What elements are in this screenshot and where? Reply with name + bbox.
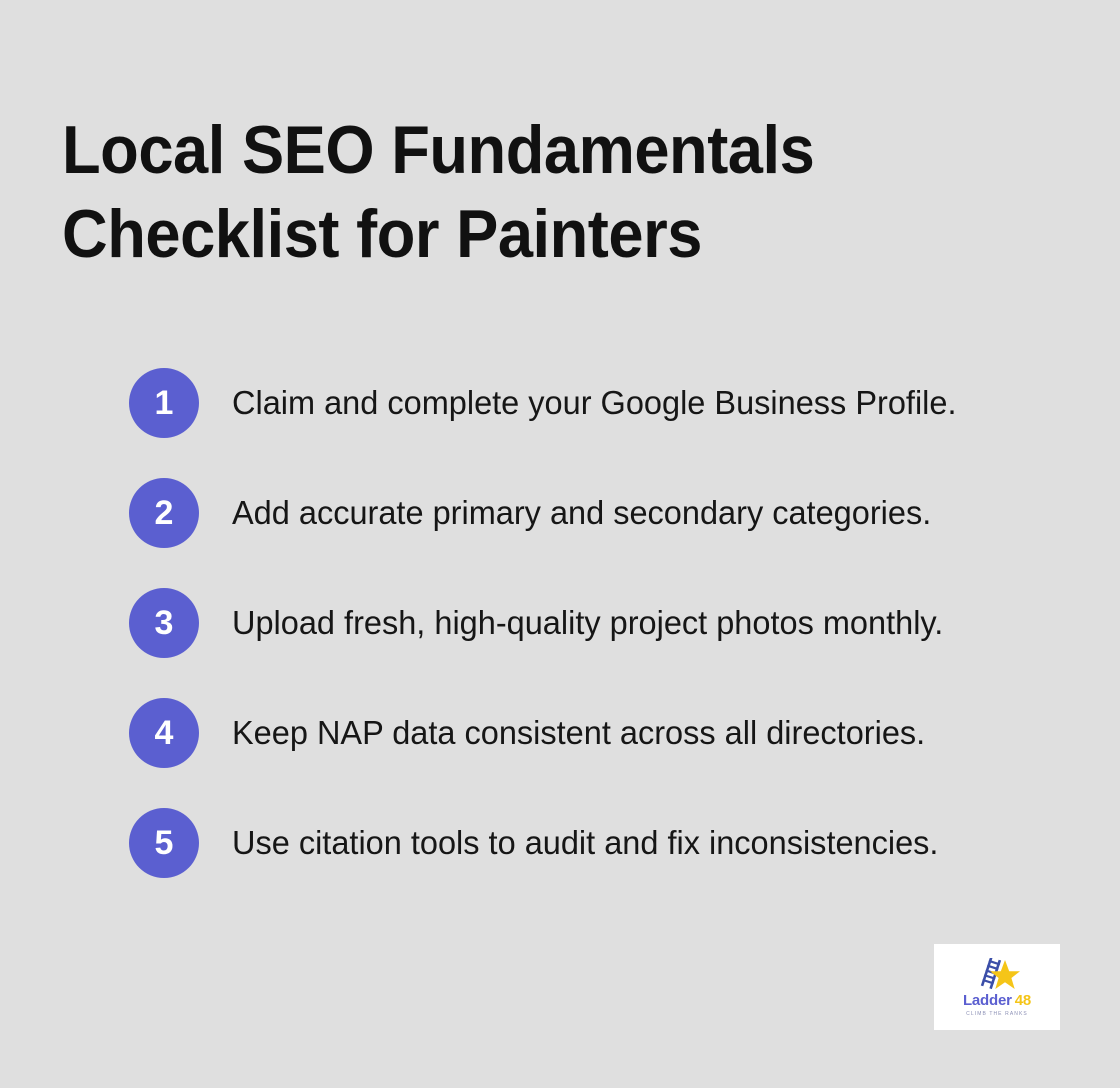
list-item-label: Upload fresh, high-quality project photo… <box>232 603 943 643</box>
logo-tagline: CLIMB THE RANKS <box>966 1011 1028 1017</box>
list-item: 1 Claim and complete your Google Busines… <box>129 368 1069 438</box>
step-number-badge: 1 <box>129 368 199 438</box>
brand-logo-card: Ladder48 CLIMB THE RANKS <box>934 944 1060 1030</box>
list-item: 3 Upload fresh, high-quality project pho… <box>129 588 1069 658</box>
step-number-badge: 2 <box>129 478 199 548</box>
page-title-line-2: Checklist for Painters <box>62 192 862 276</box>
logo-word-main: Ladder <box>963 992 1012 1009</box>
page-title-line-1: Local SEO Fundamentals <box>62 108 862 192</box>
list-item-label: Keep NAP data consistent across all dire… <box>232 713 925 753</box>
logo-wordmark: Ladder48 <box>963 993 1031 1009</box>
list-item: 2 Add accurate primary and secondary cat… <box>129 478 1069 548</box>
step-number-badge: 3 <box>129 588 199 658</box>
page-title: Local SEO Fundamentals Checklist for Pai… <box>62 108 922 276</box>
step-number-badge: 4 <box>129 698 199 768</box>
infographic-canvas: Local SEO Fundamentals Checklist for Pai… <box>0 0 1120 1088</box>
list-item: 4 Keep NAP data consistent across all di… <box>129 698 1069 768</box>
list-item-label: Claim and complete your Google Business … <box>232 383 956 423</box>
ladder-star-icon <box>974 958 1020 991</box>
step-number-badge: 5 <box>129 808 199 878</box>
logo-word-number: 48 <box>1015 992 1031 1009</box>
list-item-label: Add accurate primary and secondary categ… <box>232 493 931 533</box>
list-item: 5 Use citation tools to audit and fix in… <box>129 808 1069 878</box>
list-item-label: Use citation tools to audit and fix inco… <box>232 823 938 863</box>
checklist: 1 Claim and complete your Google Busines… <box>129 368 1069 878</box>
